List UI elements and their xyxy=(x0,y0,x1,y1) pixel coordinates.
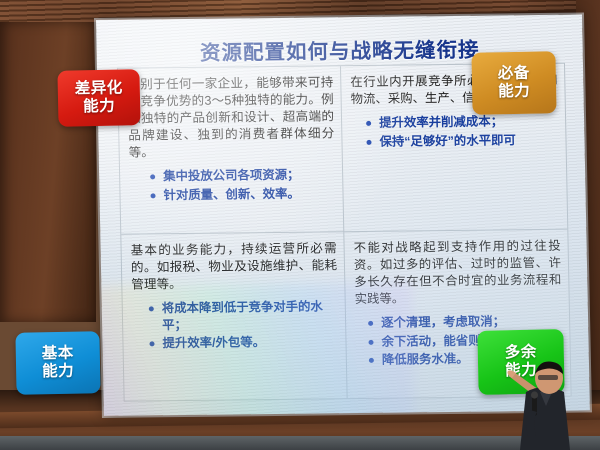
cell-bullet-list: 将成本降到低于竞争对手的水平； 提升效率/外包等。 xyxy=(146,298,339,352)
presenter-glasses xyxy=(538,375,558,380)
cell-paragraph: 有别于任何一家企业，能够带来可持续竞争优势的3～5种独特的能力。例如独特的产品创… xyxy=(127,74,335,161)
bullet-item: 提升效率/外包等。 xyxy=(146,333,338,352)
conference-room-photo: 资源配置如何与战略无缝衔接 有别于任何一家企业，能够带来可持续竞争优势的3～5种… xyxy=(0,0,600,450)
badge-line-2: 能力 xyxy=(42,363,74,382)
badge-line-1: 基本 xyxy=(42,345,74,364)
bullet-item: 提升效率并削减成本； xyxy=(363,113,558,132)
cell-bullet-list: 集中投放公司各项资源； 针对质量、创新、效率。 xyxy=(147,166,336,203)
wood-wall-left xyxy=(0,22,96,322)
presenter-person xyxy=(496,352,592,450)
badge-line-1: 必备 xyxy=(498,65,530,84)
bullet-item: 集中投放公司各项资源； xyxy=(147,166,335,185)
bullet-item: 逐个清理，考虑取消； xyxy=(365,313,562,332)
badge-essential-capability: 必备 能力 xyxy=(471,51,556,115)
cell-paragraph: 基本的业务能力，持续运营所必需的。如报税、物业及设施维护、能耗管理等。 xyxy=(130,240,337,293)
matrix-cell-differentiating: 有别于任何一家企业，能够带来可持续竞争优势的3～5种独特的能力。例如独特的产品创… xyxy=(118,66,344,234)
microphone-head xyxy=(531,391,538,398)
badge-differentiating-capability: 差异化 能力 xyxy=(57,69,140,127)
bullet-item: 将成本降到低于竞争对手的水平； xyxy=(146,298,339,333)
bullet-item: 针对质量、创新、效率。 xyxy=(147,185,335,204)
badge-line-2: 能力 xyxy=(83,98,115,117)
badge-line-2: 能力 xyxy=(498,83,530,102)
cell-bullet-list: 提升效率并削减成本； 保持“足够好”的水平即可 xyxy=(363,113,559,150)
bullet-item: 保持“足够好”的水平即可 xyxy=(363,131,558,150)
matrix-cell-basic: 基本的业务能力，持续运营所必需的。如报税、物业及设施维护、能耗管理等。 将成本降… xyxy=(121,232,347,400)
cell-paragraph: 不能对战略起到支持作用的过往投资。如过多的评估、过时的监管、许多长久存在但不合时… xyxy=(353,238,561,308)
badge-line-1: 差异化 xyxy=(75,80,123,99)
badge-basic-capability: 基本 能力 xyxy=(15,331,100,395)
